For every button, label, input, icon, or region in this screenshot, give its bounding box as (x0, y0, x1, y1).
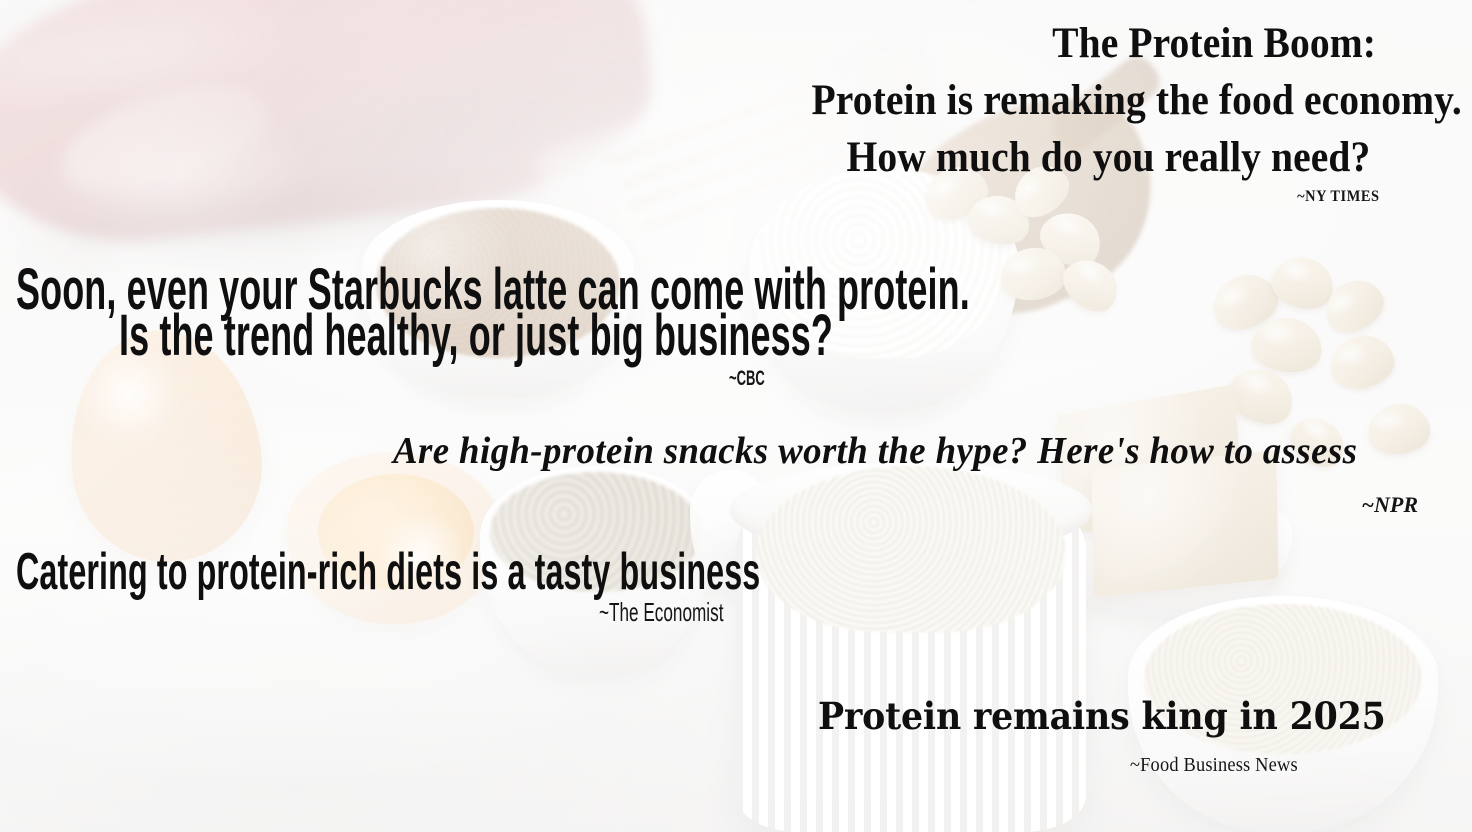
headline-nyt-line-2: Protein is remaking the food economy. (812, 79, 1462, 123)
credit-economist: ~The Economist (599, 597, 723, 628)
credit-npr: ~NPR (1361, 492, 1418, 518)
credit-nyt: ~NY TIMES (1298, 188, 1380, 206)
headline-npr-line-1: Are high-protein snacks worth the hype? … (393, 432, 1357, 471)
headline-nyt-line-1: The Protein Boom: (1052, 22, 1376, 66)
headline-economist-line-1: Catering to protein-rich diets is a tast… (16, 546, 760, 599)
pistachio (1325, 329, 1400, 395)
headline-cbc-line-2: Is the trend healthy, or just big busine… (119, 306, 833, 365)
headline-collage-image: The Protein Boom: Protein is remaking th… (0, 0, 1472, 832)
headline-nyt-line-3: How much do you really need? (846, 136, 1370, 180)
headline-food-business-news-line-1: Protein remains king in 2025 (818, 698, 1386, 736)
credit-food-business-news: ~Food Business News (1130, 754, 1298, 777)
credit-cbc: ~CBC (729, 367, 765, 391)
tofu-block (1091, 450, 1278, 598)
hemp-seeds (756, 466, 1066, 632)
pistachio (1366, 401, 1433, 457)
